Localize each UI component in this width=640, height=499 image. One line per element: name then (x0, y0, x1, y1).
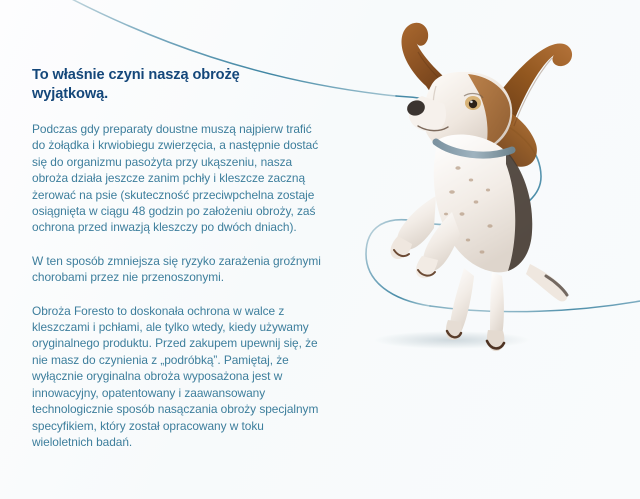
dog-tail (526, 264, 567, 301)
promo-panel: To właśnie czyni naszą obrożę wyjątkową.… (0, 0, 640, 499)
hero-dog-image (340, 0, 640, 360)
body-paragraph-1: Podczas gdy preparaty doustne muszą najp… (32, 121, 322, 236)
page-title: To właśnie czyni naszą obrożę wyjątkową. (32, 66, 292, 104)
text-column: To właśnie czyni naszą obrożę wyjątkową.… (32, 66, 322, 450)
body-paragraph-3: Obroża Foresto to doskonała ochrona w wa… (32, 303, 322, 451)
body-paragraph-2: W ten sposób zmniejsza się ryzyko zaraże… (32, 253, 322, 286)
